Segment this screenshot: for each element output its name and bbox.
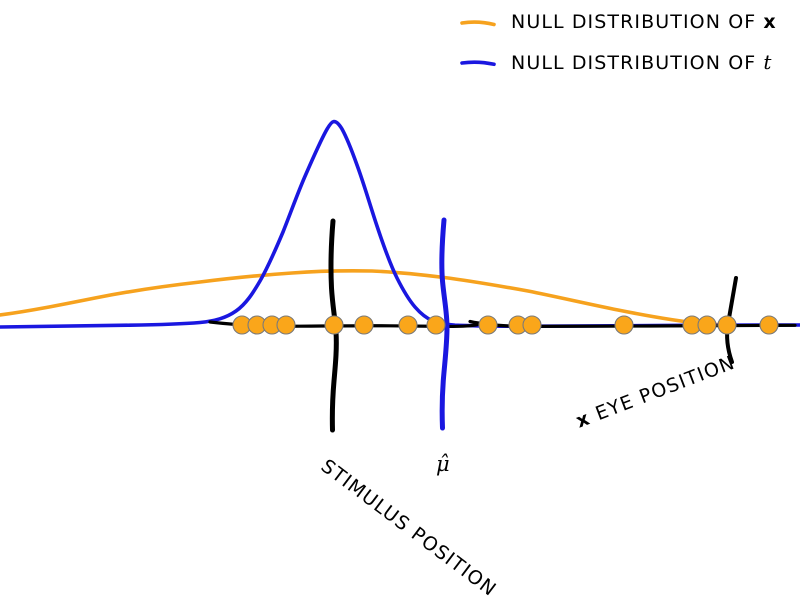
null-distribution-t-curve: [0, 122, 800, 327]
legend-label-t-var: t: [763, 50, 772, 74]
legend-label-null-distribution-t: NULL DISTRIBUTION OF t: [511, 50, 773, 74]
data-dot: [277, 316, 295, 334]
data-dot: [479, 316, 497, 334]
data-dot: [698, 316, 716, 334]
data-dot: [523, 316, 541, 334]
legend-label-null-distribution-x: NULL DISTRIBUTION OF x: [511, 11, 777, 33]
data-dot: [427, 316, 445, 334]
figure-canvas: NULL DISTRIBUTION OF x NULL DISTRIBUTION…: [0, 0, 800, 600]
legend-label-x-var: x: [763, 11, 776, 33]
legend-swatch-blue: [462, 62, 494, 64]
legend-label-x-prefix: NULL DISTRIBUTION OF: [511, 11, 763, 33]
data-dot: [325, 316, 343, 334]
legend-swatch-orange: [462, 22, 494, 24]
data-dot: [399, 316, 417, 334]
mu-hat-label: μ̂: [436, 452, 450, 476]
data-dot: [355, 316, 373, 334]
legend-label-t-prefix: NULL DISTRIBUTION OF: [511, 52, 763, 74]
data-dot: [718, 316, 736, 334]
data-dot: [615, 316, 633, 334]
data-dot: [760, 316, 778, 334]
